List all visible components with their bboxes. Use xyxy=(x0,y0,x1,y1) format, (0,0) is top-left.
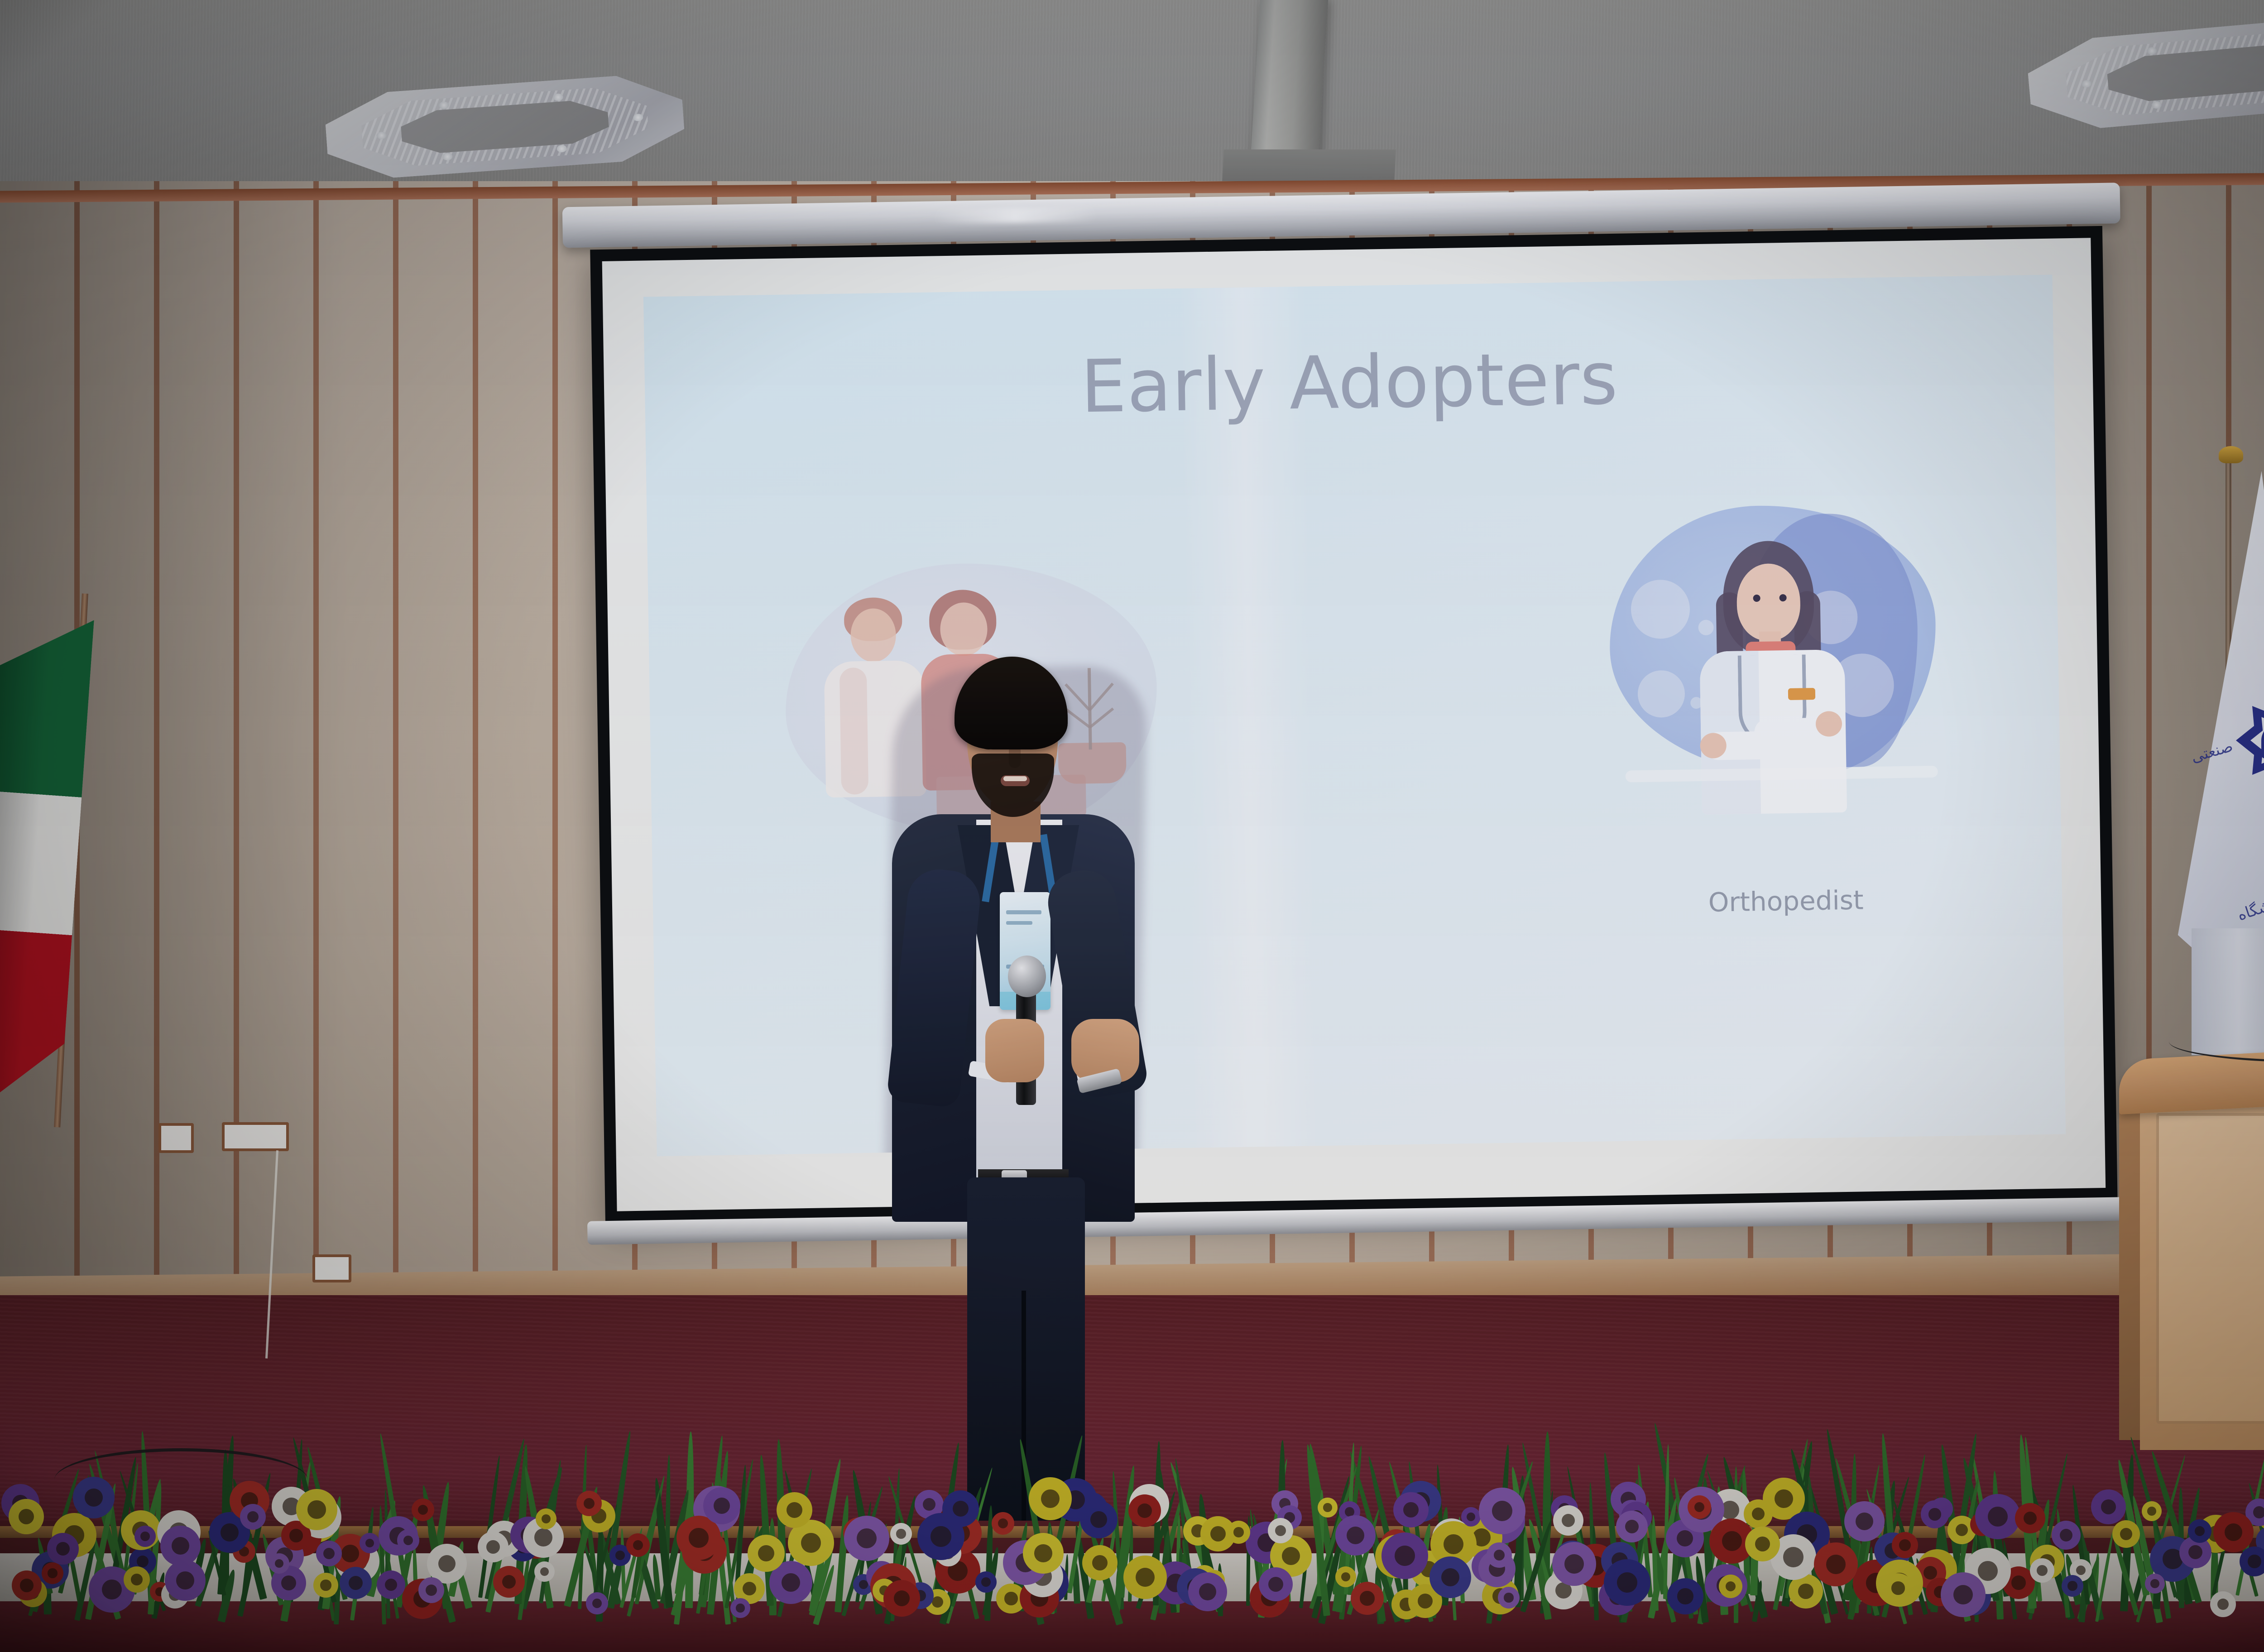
pansy-flower xyxy=(124,1566,150,1593)
pansy-flower xyxy=(1429,1556,1471,1598)
pansy-flower xyxy=(576,1491,602,1516)
pansy-flower xyxy=(2052,1521,2081,1550)
flower-planter xyxy=(0,1453,2264,1652)
pansy-flower xyxy=(1128,1494,1161,1527)
pansy-flower xyxy=(1883,1573,1913,1603)
window-curtain xyxy=(2192,928,2264,1055)
outlet-plate-lower[interactable] xyxy=(312,1254,351,1282)
pansy-flower xyxy=(397,1529,419,1551)
pansy-flower xyxy=(269,1553,289,1574)
flag-finial-icon xyxy=(2219,446,2243,463)
pansy-flower xyxy=(1259,1567,1293,1601)
pansy-flower xyxy=(1227,1521,1250,1544)
doctor-illustration xyxy=(1607,503,1957,839)
pansy-flower xyxy=(1688,1495,1711,1519)
pansy-flower xyxy=(1479,1488,1525,1534)
pansy-flower xyxy=(2030,1558,2054,1583)
pansy-flower xyxy=(586,1592,608,1614)
pansy-flower xyxy=(730,1598,750,1618)
pansy-flower xyxy=(1553,1505,1583,1536)
pansy-flower xyxy=(47,1533,79,1565)
pansy-flower xyxy=(2145,1574,2165,1594)
auditorium-photo: Early Adopters xyxy=(0,0,2264,1652)
pansy-flower xyxy=(12,1570,42,1600)
pansy-flower xyxy=(1188,1572,1227,1611)
pansy-flower xyxy=(1268,1518,1293,1543)
pansy-flower xyxy=(1941,1572,1986,1617)
microphone-head-icon xyxy=(1008,956,1046,997)
pansy-flower xyxy=(313,1573,338,1598)
pansy-flower xyxy=(917,1513,964,1560)
pansy-flower xyxy=(2062,1575,2083,1597)
pansy-flower xyxy=(478,1532,508,1562)
pansy-flower xyxy=(1498,1587,1520,1609)
podium-front-panel xyxy=(2140,1092,2264,1450)
pansy-flower xyxy=(165,1560,206,1601)
roller-highlight xyxy=(934,206,1097,224)
pansy-flower xyxy=(1814,1542,1858,1586)
pansy-flower xyxy=(1744,1499,1773,1528)
slide-caption: Orthopedist xyxy=(1641,884,1931,919)
pansy-flower xyxy=(1975,1494,2020,1539)
university-emblem-icon xyxy=(2236,695,2264,786)
pansy-flower xyxy=(777,1492,812,1528)
pansy-flower xyxy=(2091,1489,2126,1524)
pansy-flower xyxy=(240,1504,266,1530)
pansy-flower xyxy=(493,1566,525,1598)
doctor-name-badge xyxy=(1788,688,1815,700)
pansy-flower xyxy=(1351,1582,1384,1615)
hand-holding-microphone xyxy=(985,1019,1044,1082)
pansy-flower xyxy=(748,1535,785,1572)
podium-inset-panel xyxy=(2156,1113,2264,1424)
screen-surface: Early Adopters xyxy=(602,238,2106,1211)
pansy-flower xyxy=(316,1541,342,1566)
pansy-flower xyxy=(134,1526,156,1547)
pansy-flower xyxy=(296,1489,337,1530)
pansy-flower xyxy=(1381,1532,1428,1579)
pansy-flower xyxy=(975,1571,997,1593)
pansy-flower xyxy=(160,1526,201,1566)
pansy-flower xyxy=(1123,1556,1167,1599)
pansy-flower xyxy=(2015,1503,2045,1533)
pansy-flower xyxy=(534,1561,555,1582)
pansy-flower xyxy=(1616,1511,1648,1542)
pansy-flower xyxy=(1082,1545,1118,1580)
slide-canvas: Early Adopters xyxy=(643,275,2066,1157)
pansy-flower xyxy=(9,1499,44,1534)
pansy-flower xyxy=(1335,1566,1356,1587)
pansy-flower xyxy=(1604,1559,1650,1606)
pansy-flower xyxy=(412,1498,434,1521)
presenter xyxy=(887,657,1141,1481)
teeth xyxy=(1003,776,1027,781)
pansy-flower xyxy=(1318,1498,1338,1518)
pansy-flower xyxy=(883,1580,920,1617)
screen-frame: Early Adopters xyxy=(590,226,2117,1223)
pansy-flower xyxy=(626,1533,650,1557)
pansy-flower xyxy=(1844,1501,1885,1542)
pansy-flower xyxy=(1029,1477,1072,1520)
pansy-flower xyxy=(1393,1492,1429,1527)
pansy-flower xyxy=(1921,1500,1949,1528)
pansy-flower xyxy=(2188,1519,2211,1543)
pansy-flower xyxy=(890,1523,912,1545)
pansy-flower xyxy=(340,1567,372,1599)
projection-screen: Early Adopters xyxy=(590,201,2118,1253)
pansy-flower xyxy=(73,1477,115,1518)
pansy-flower xyxy=(377,1570,405,1599)
pansy-flower xyxy=(1667,1578,1703,1614)
pansy-flower xyxy=(418,1577,444,1603)
pansy-flower xyxy=(1892,1532,1918,1558)
pansy-flower xyxy=(703,1487,740,1524)
pansy-flower xyxy=(1745,1527,1780,1561)
pansy-flower xyxy=(2142,1501,2162,1521)
pansy-flower xyxy=(1335,1515,1376,1556)
pansy-flower xyxy=(2112,1520,2140,1548)
doctor-ground-shadow xyxy=(1626,766,1938,783)
pansy-flower xyxy=(992,1512,1014,1535)
pansy-flower xyxy=(2210,1591,2236,1617)
pansy-flower xyxy=(536,1508,556,1529)
pansy-flower xyxy=(1487,1542,1512,1568)
slide-title: Early Adopters xyxy=(644,329,2055,436)
pansy-flower xyxy=(2213,1512,2254,1552)
pansy-flower xyxy=(1023,1533,1064,1574)
outlet-plate-double[interactable] xyxy=(222,1122,289,1151)
podium-desk xyxy=(2119,1051,2264,1458)
pansy-flower xyxy=(844,1516,889,1561)
pansy-flower xyxy=(1552,1542,1596,1586)
outlet-plate-left[interactable] xyxy=(158,1123,194,1153)
pansy-flower xyxy=(360,1533,380,1553)
pansy-flower xyxy=(42,1562,63,1584)
pansy-flower xyxy=(1719,1575,1742,1598)
hair xyxy=(955,657,1068,749)
